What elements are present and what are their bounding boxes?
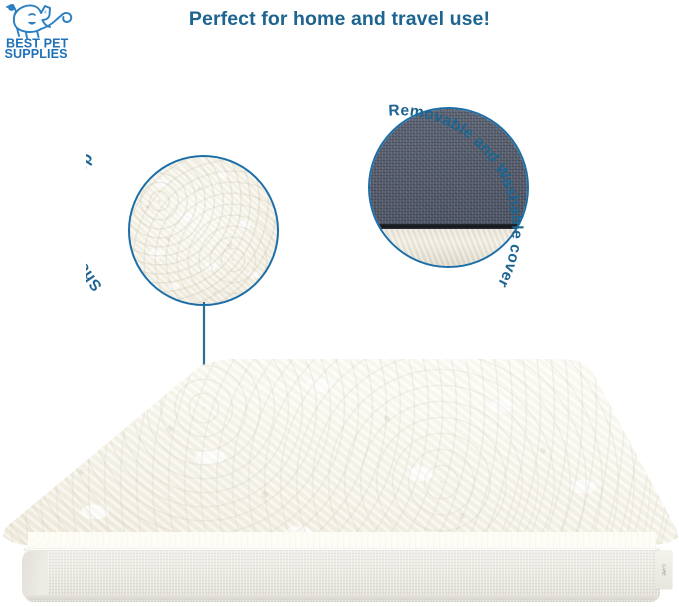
sherpa-fleece-swatch-circle [128,155,279,306]
page-title: Perfect for home and travel use! [0,8,679,31]
bed-bottom-piping-seam [26,595,658,600]
care-label-tag: CARE [655,551,672,589]
cover-foam-layer [370,229,527,266]
washable-cover-swatch-circle [368,107,529,268]
bed-side-panel-left-end [22,551,48,600]
care-label-tag-text: CARE [661,564,666,576]
callout-label-sherpa-fleece-text: Sherpa Fleece top [86,150,105,294]
cover-fabric-layer [370,109,527,224]
pet-bed-product-image: CARE [0,355,679,607]
brand-name-line2: SUPPLIES [5,47,68,60]
